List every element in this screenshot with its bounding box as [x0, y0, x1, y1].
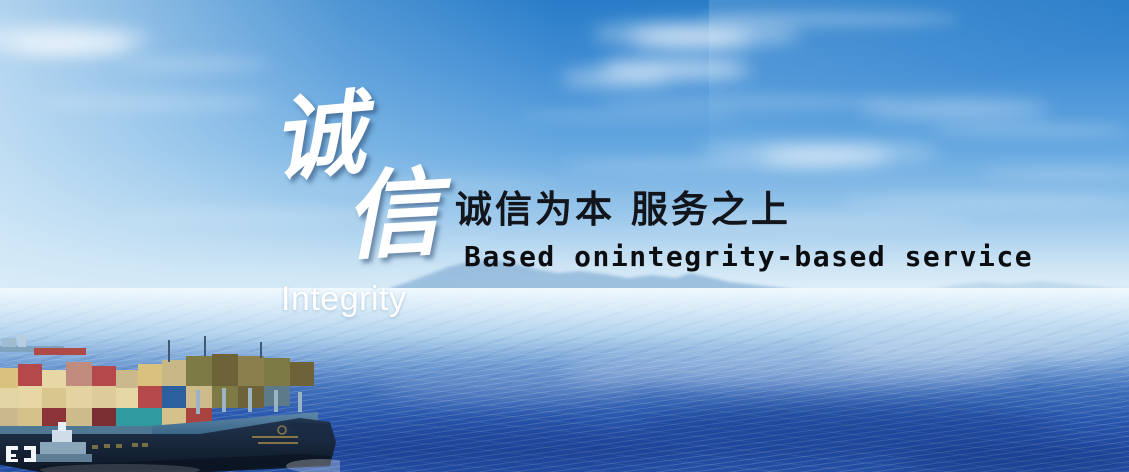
slogan-chinese: 诚信为本 服务之上 — [455, 179, 791, 233]
integrity-label: Integrity — [281, 280, 406, 319]
hero-banner: 诚 信 Integrity 诚信为本 服务之上 Based onintegrit… — [0, 0, 1129, 472]
slogan-english: Based onintegrity-based service — [464, 240, 1033, 273]
sky-haze-top-right — [709, 0, 1129, 150]
container-stack — [0, 354, 314, 426]
calligraphy-char-xin: 信 — [342, 166, 441, 267]
container-ship — [0, 330, 340, 472]
